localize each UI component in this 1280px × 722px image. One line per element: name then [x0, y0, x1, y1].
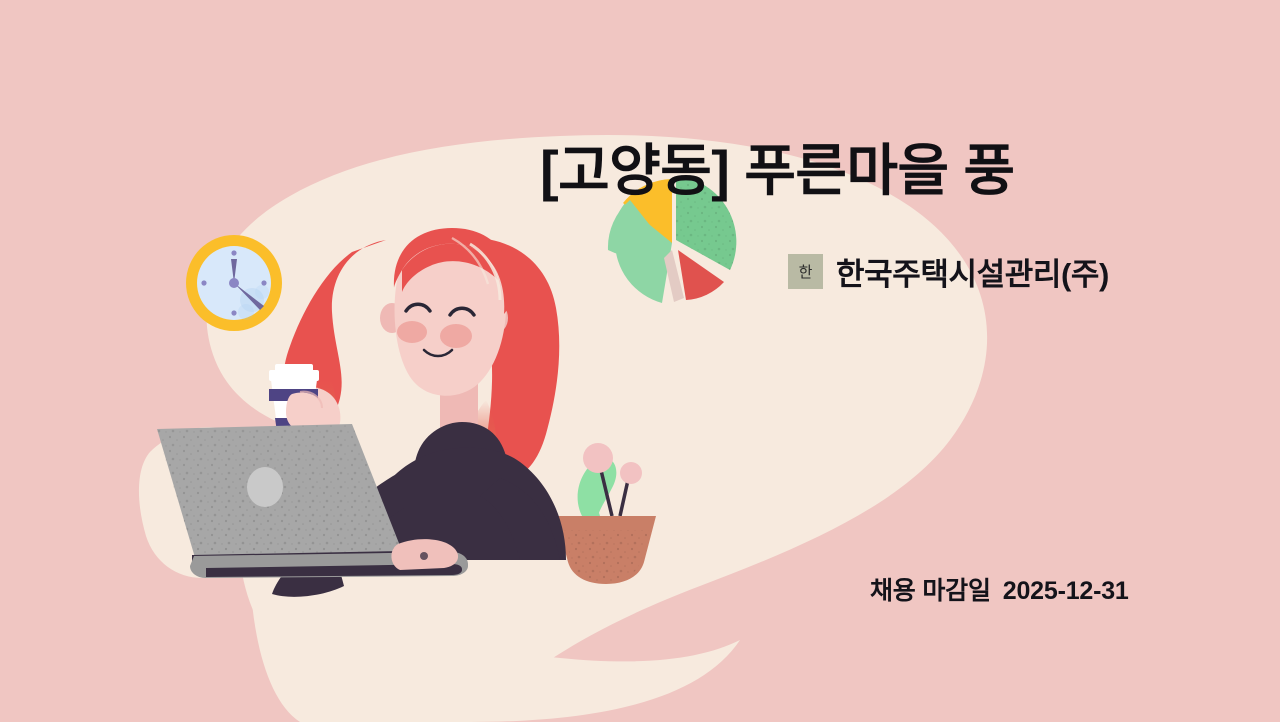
deadline-date: 2025-12-31: [1003, 577, 1129, 605]
deadline-row: 채용 마감일2025-12-31: [870, 571, 1129, 607]
job-posting-card: [고양동] 푸른마을 풍 한 한국주택시설관리(주) 채용 마감일2025-12…: [0, 0, 1280, 722]
deadline-label: 채용 마감일: [870, 577, 991, 605]
company-name: 한국주택시설관리(주): [836, 249, 1109, 294]
job-title: [고양동] 푸른마을 풍: [540, 136, 1240, 206]
company-logo-badge: 한: [788, 254, 823, 289]
job-text-column: [고양동] 푸른마을 풍 한 한국주택시설관리(주) 채용 마감일2025-12…: [540, 0, 1280, 722]
company-row[interactable]: 한 한국주택시설관리(주): [788, 249, 1109, 294]
